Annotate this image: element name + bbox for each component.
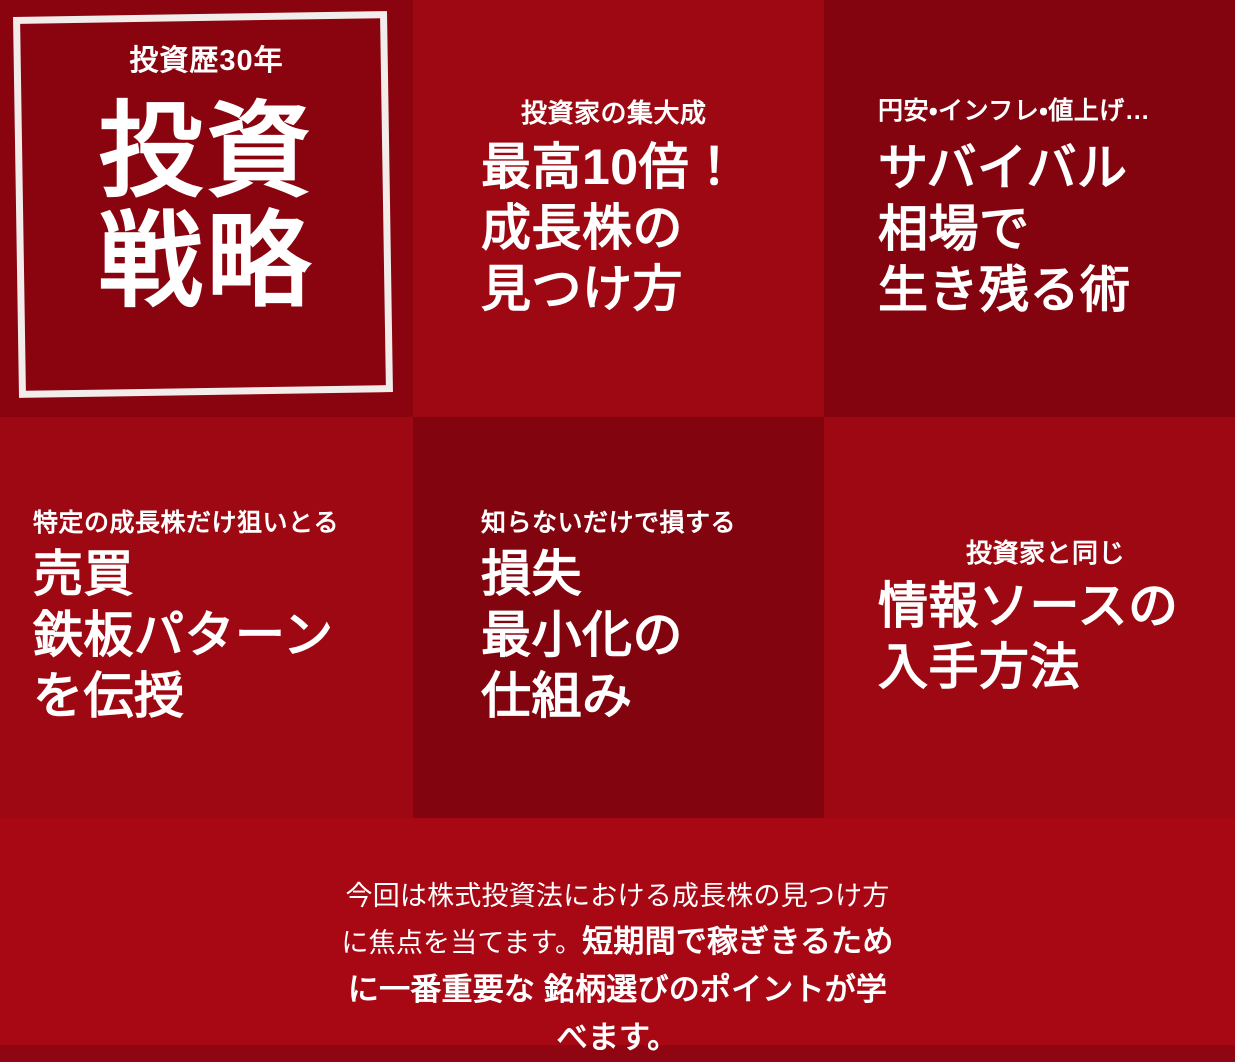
trade-pattern-line-1: 売買 [33, 544, 413, 605]
hero-content: 投資歴30年 投資 戦略 [0, 0, 413, 317]
feature-cell-growth-stock[interactable]: 投資家の集大成 最高10倍！ 成長株の 見つけ方 [413, 0, 824, 417]
loss-minimize-eyebrow: 知らないだけで損する [481, 508, 824, 539]
feature-grid: 投資歴30年 投資 戦略 投資家の集大成 最高10倍！ 成長株の 見つけ方 円安… [0, 0, 1235, 818]
feature-cell-info-source[interactable]: 投資家と同じ 情報ソースの 入手方法 [824, 417, 1235, 818]
footer-description: 今回は株式投資法における成長株の見つけ方に焦点を当てます。短期間で稼ぎきるために… [333, 818, 903, 1062]
survival-eyebrow: 円安・インフレ・値上げ… [878, 96, 1235, 127]
feature-cell-trade-pattern[interactable]: 特定の成長株だけ狙いとる 売買 鉄板パターン を伝授 [0, 417, 413, 818]
trade-pattern-line-3: を伝授 [33, 666, 413, 727]
hero-title: 投資 戦略 [0, 97, 413, 317]
info-source-eyebrow: 投資家と同じ [878, 537, 1235, 570]
trade-pattern-content: 特定の成長株だけ狙いとる 売買 鉄板パターン を伝授 [0, 508, 413, 726]
promo-poster: 投資歴30年 投資 戦略 投資家の集大成 最高10倍！ 成長株の 見つけ方 円安… [0, 0, 1235, 1045]
feature-cell-hero[interactable]: 投資歴30年 投資 戦略 [0, 0, 413, 417]
trade-pattern-line-2: 鉄板パターン [33, 605, 413, 666]
info-source-content: 投資家と同じ 情報ソースの 入手方法 [824, 537, 1235, 698]
trade-pattern-eyebrow: 特定の成長株だけ狙いとる [33, 508, 413, 539]
hero-eyebrow: 投資歴30年 [0, 44, 413, 79]
growth-stock-eyebrow: 投資家の集大成 [481, 97, 824, 130]
loss-minimize-line-1: 損失 [481, 544, 824, 605]
hero-title-line-2: 戦略 [0, 207, 413, 317]
loss-minimize-line-3: 仕組み [481, 666, 824, 727]
info-source-line-1: 情報ソースの [878, 576, 1235, 637]
growth-stock-content: 投資家の集大成 最高10倍！ 成長株の 見つけ方 [413, 97, 824, 321]
growth-stock-line-2: 成長株の [481, 198, 824, 259]
survival-content: 円安・インフレ・値上げ… サバイバル 相場で 生き残る術 [824, 96, 1235, 320]
survival-line-2: 相場で [878, 199, 1235, 260]
info-source-line-2: 入手方法 [878, 637, 1235, 698]
footer-banner: 今回は株式投資法における成長株の見つけ方に焦点を当てます。短期間で稼ぎきるために… [0, 818, 1235, 1045]
growth-stock-line-3: 見つけ方 [481, 259, 824, 320]
loss-minimize-content: 知らないだけで損する 損失 最小化の 仕組み [413, 508, 824, 726]
feature-cell-loss-minimize[interactable]: 知らないだけで損する 損失 最小化の 仕組み [413, 417, 824, 818]
hero-title-line-1: 投資 [0, 97, 413, 207]
survival-line-1: サバイバル [878, 138, 1235, 199]
feature-cell-survival[interactable]: 円安・インフレ・値上げ… サバイバル 相場で 生き残る術 [824, 0, 1235, 417]
survival-line-3: 生き残る術 [878, 260, 1235, 321]
growth-stock-line-1: 最高10倍！ [481, 137, 824, 198]
loss-minimize-line-2: 最小化の [481, 605, 824, 666]
